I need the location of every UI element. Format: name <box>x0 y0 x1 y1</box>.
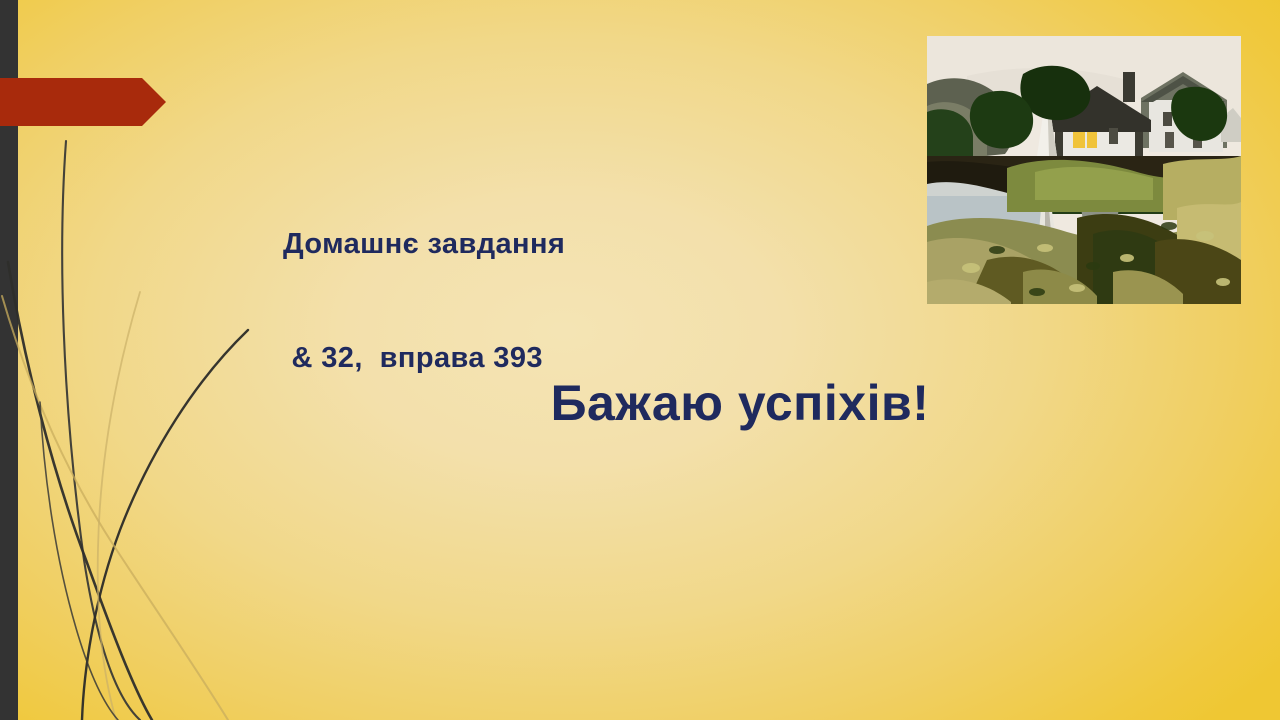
red-arrow-banner <box>0 78 166 126</box>
slide-title: Бажаю успіхів! <box>300 376 1180 431</box>
homework-line-2: & 32, вправа 393 <box>283 339 803 377</box>
homework-line-1: Домашнє завдання <box>283 225 803 263</box>
presentation-slide: Домашнє завдання & 32, вправа 393 Бажаю … <box>0 0 1280 720</box>
landscape-picture <box>927 36 1241 304</box>
